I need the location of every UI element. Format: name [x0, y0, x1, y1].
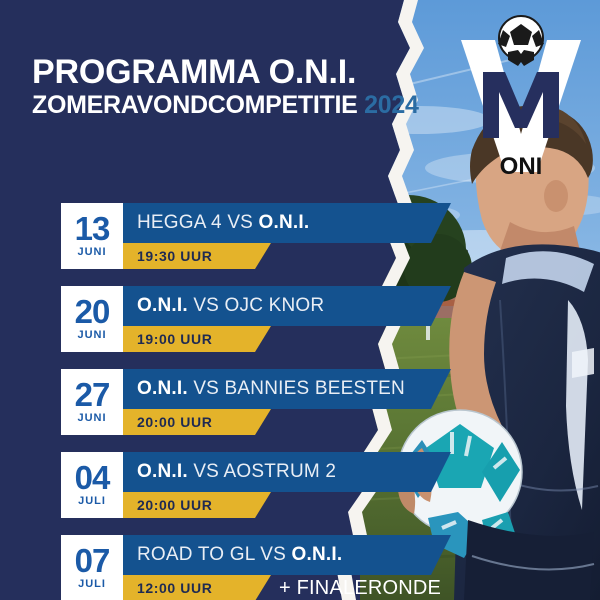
match-home-team: O.N.I.: [137, 378, 188, 399]
match-fixture-bar: O.N.I. VS AOSTRUM 2: [123, 452, 451, 492]
match-vs-label: VS: [193, 461, 219, 482]
match-time-bar: 19:00 UUR: [123, 326, 271, 352]
match-month: JUNI: [77, 246, 106, 258]
match-time-bar: 19:30 UUR: [123, 243, 271, 269]
match-time-bar: 20:00 UUR: [123, 492, 271, 518]
match-fixture-text: O.N.I. VS OJC KNOR: [137, 295, 324, 317]
match-away-team: O.N.I.: [259, 212, 310, 233]
match-fixture-text: ROAD TO GL VS O.N.I.: [137, 544, 342, 566]
match-away-team: O.N.I.: [292, 544, 343, 565]
match-time: 20:00 UUR: [137, 497, 212, 513]
match-fixture-text: O.N.I. VS AOSTRUM 2: [137, 461, 336, 483]
match-fixture-bar: O.N.I. VS OJC KNOR: [123, 286, 451, 326]
match-time: 19:00 UUR: [137, 331, 212, 347]
match-home-team: O.N.I.: [137, 461, 188, 482]
match-vs-label: VS: [227, 212, 253, 233]
match-fixture-bar: O.N.I. VS BANNIES BEESTEN: [123, 369, 451, 409]
match-fixture-text: O.N.I. VS BANNIES BEESTEN: [137, 378, 405, 400]
match-time-bar: 20:00 UUR: [123, 409, 271, 435]
match-home-team: O.N.I.: [137, 295, 188, 316]
match-away-team: AOSTRUM 2: [224, 461, 337, 482]
match-month: JULI: [78, 495, 106, 507]
match-time: 20:00 UUR: [137, 414, 212, 430]
match-row[interactable]: 20JUNIO.N.I. VS OJC KNOR19:00 UUR: [61, 286, 481, 352]
match-vs-label: VS: [260, 544, 286, 565]
match-day: 13: [75, 214, 110, 244]
match-day: 20: [75, 297, 110, 327]
match-row[interactable]: 07JULIROAD TO GL VS O.N.I.12:00 UUR+ FIN…: [61, 535, 481, 600]
match-home-team: ROAD TO GL: [137, 544, 255, 565]
match-date-box: 07JULI: [61, 535, 123, 600]
match-date-box: 04JULI: [61, 452, 123, 518]
match-fixture-bar: ROAD TO GL VS O.N.I.: [123, 535, 451, 575]
match-day: 04: [75, 463, 110, 493]
match-month: JULI: [78, 578, 106, 590]
match-fixture-bar: HEGGA 4 VS O.N.I.: [123, 203, 451, 243]
poster-canvas: ONI PROGRAMMA O.N.I. ZOMERAVONDCOMPETITI…: [0, 0, 600, 600]
match-list: 13JUNIHEGGA 4 VS O.N.I.19:30 UUR20JUNIO.…: [0, 0, 600, 600]
match-day: 07: [75, 546, 110, 576]
match-time: 12:00 UUR: [137, 580, 212, 596]
match-extra-note: + FINALERONDE: [279, 575, 441, 600]
match-vs-label: VS: [193, 378, 219, 399]
match-time-bar: 12:00 UUR: [123, 575, 271, 600]
match-vs-label: VS: [193, 295, 219, 316]
match-row[interactable]: 13JUNIHEGGA 4 VS O.N.I.19:30 UUR: [61, 203, 481, 269]
match-month: JUNI: [77, 329, 106, 341]
match-date-box: 20JUNI: [61, 286, 123, 352]
match-row[interactable]: 27JUNIO.N.I. VS BANNIES BEESTEN20:00 UUR: [61, 369, 481, 435]
match-fixture-text: HEGGA 4 VS O.N.I.: [137, 212, 309, 234]
match-away-team: OJC KNOR: [225, 295, 325, 316]
match-home-team: HEGGA 4: [137, 212, 222, 233]
match-away-team: BANNIES BEESTEN: [225, 378, 405, 399]
match-time: 19:30 UUR: [137, 248, 212, 264]
match-date-box: 27JUNI: [61, 369, 123, 435]
match-month: JUNI: [77, 412, 106, 424]
match-day: 27: [75, 380, 110, 410]
match-date-box: 13JUNI: [61, 203, 123, 269]
match-row[interactable]: 04JULIO.N.I. VS AOSTRUM 220:00 UUR: [61, 452, 481, 518]
